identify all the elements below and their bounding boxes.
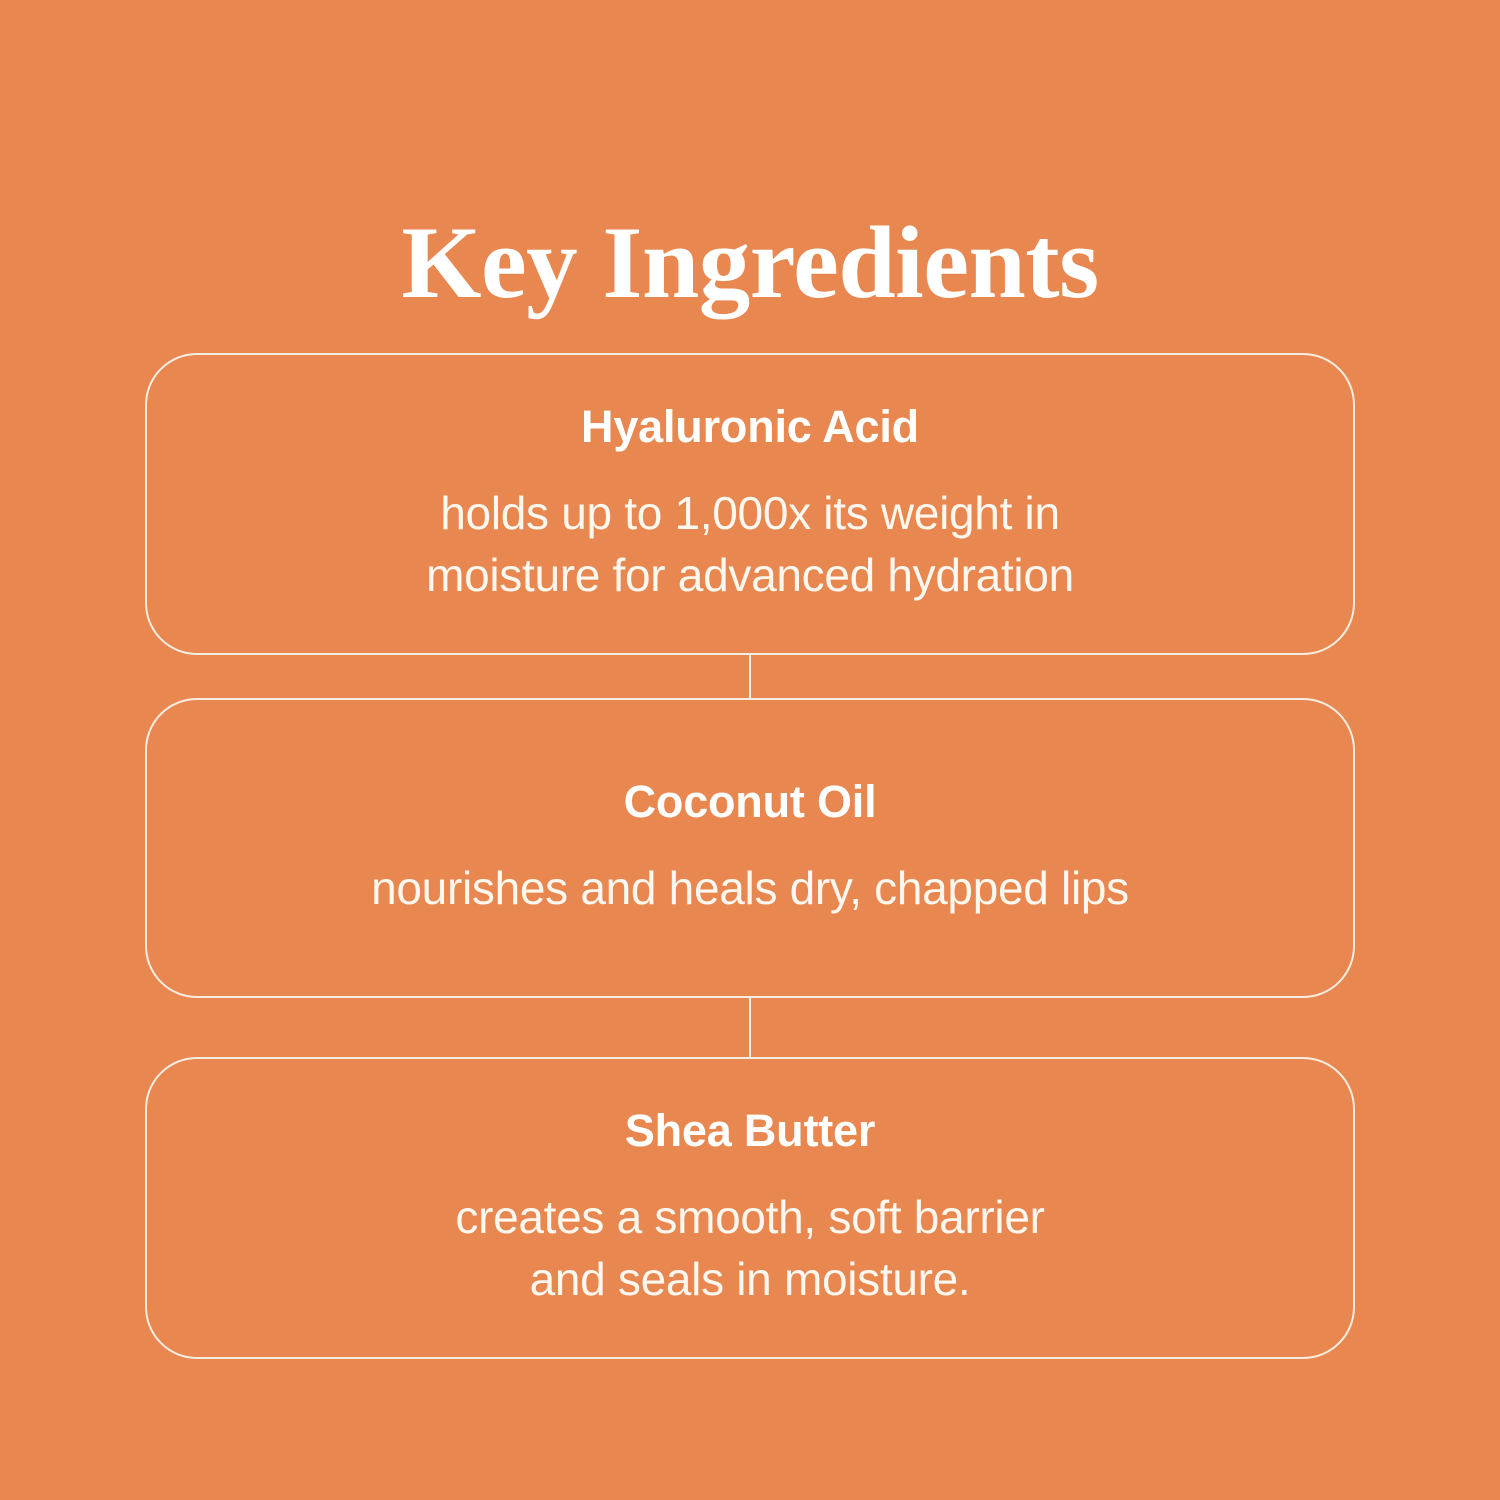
ingredient-name: Shea Butter (625, 1106, 875, 1156)
ingredient-name: Hyaluronic Acid (581, 402, 919, 452)
ingredient-card-hyaluronic-acid: Hyaluronic Acid holds up to 1,000x its w… (145, 353, 1355, 655)
ingredient-description: holds up to 1,000x its weight in moistur… (426, 482, 1074, 606)
page-title: Key Ingredients (0, 208, 1500, 319)
ingredient-card-shea-butter: Shea Butter creates a smooth, soft barri… (145, 1057, 1355, 1359)
ingredient-card-stack: Hyaluronic Acid holds up to 1,000x its w… (145, 353, 1355, 1359)
ingredient-description: nourishes and heals dry, chapped lips (371, 857, 1129, 919)
connector-line-1 (145, 655, 1355, 698)
ingredient-card-coconut-oil: Coconut Oil nourishes and heals dry, cha… (145, 698, 1355, 998)
connector-line-2 (145, 998, 1355, 1057)
key-ingredients-infographic: Key Ingredients Hyaluronic Acid holds up… (0, 0, 1500, 1500)
ingredient-description: creates a smooth, soft barrier and seals… (455, 1186, 1044, 1310)
ingredient-name: Coconut Oil (624, 777, 877, 827)
